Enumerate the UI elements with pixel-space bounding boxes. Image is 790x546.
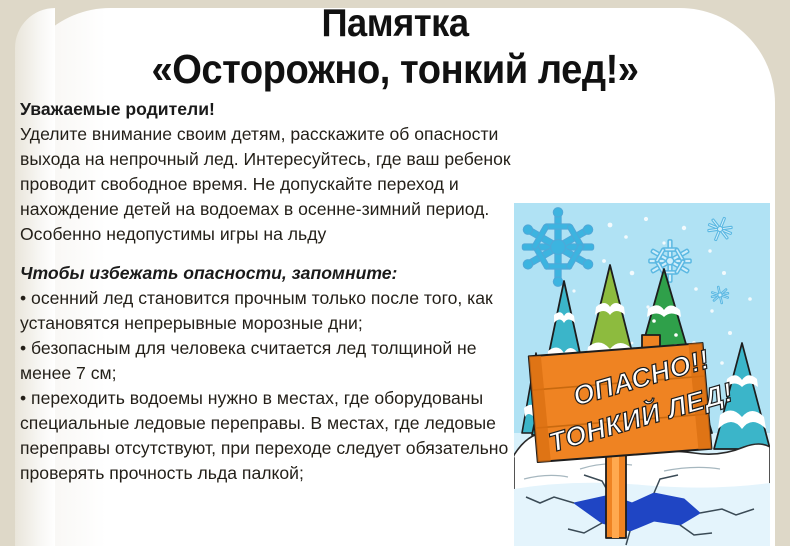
bullet-item-2: • безопасным для человека считается лед … [20, 336, 530, 386]
lead-paragraph: Уделите внимание своим детям, расскажите… [20, 122, 530, 247]
poster-root: Памятка «Осторожно, тонкий лед!» Уважаем… [0, 0, 790, 546]
title-line-2: «Осторожно, тонкий лед!» [28, 46, 763, 92]
illustration-winter-scene: ОПАСНО!! ТОНКИЙ ЛЕД! [514, 203, 770, 546]
body-text-column: Уважаемые родители! Уделите внимание сво… [20, 97, 530, 486]
lead-heading: Уважаемые родители! [20, 97, 530, 122]
title-line-1: Памятка [28, 2, 763, 46]
poster-title: Памятка «Осторожно, тонкий лед!» [0, 2, 790, 92]
section-heading: Чтобы избежать опасности, запомните: [20, 261, 530, 286]
bullet-item-3: • переходить водоемы нужно в местах, где… [20, 386, 530, 486]
bullet-item-1: • осенний лед становится прочным только … [20, 286, 530, 336]
